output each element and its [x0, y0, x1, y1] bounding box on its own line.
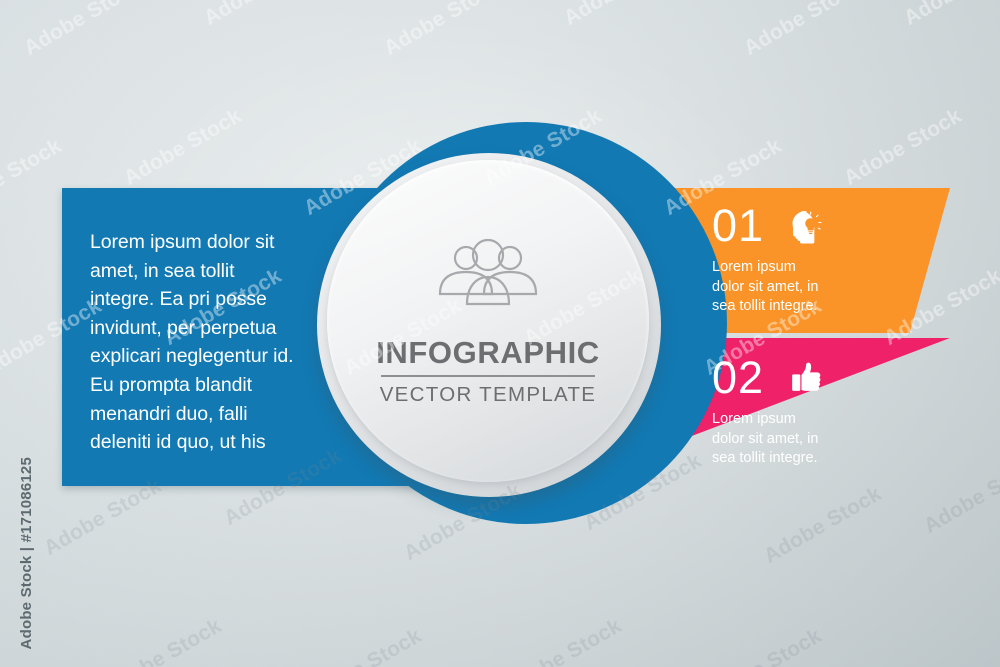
watermark-text: Adobe Stock — [560, 0, 686, 31]
step-01-number: 01 — [712, 203, 764, 249]
page-title: INFOGRAPHIC — [376, 336, 600, 370]
watermark-text: Adobe Stock — [920, 452, 1000, 539]
step-01-content: 01 Lorem ipsum dolor sit — [712, 198, 862, 317]
left-description-text: Lorem ipsum dolor sit amet, in sea tolli… — [90, 228, 300, 457]
watermark-text: Adobe Stock — [200, 0, 326, 31]
watermark-text: Adobe Stock — [760, 482, 886, 569]
page-subtitle: VECTOR TEMPLATE — [380, 383, 597, 407]
watermark-text: Adobe Stock — [380, 0, 506, 61]
people-group-icon — [429, 236, 547, 310]
watermark-text: Adobe Stock — [300, 624, 426, 667]
step-02-content: 02 Lorem ipsum dolor sit amet, in sea to… — [712, 350, 862, 469]
head-lightbulb-icon — [786, 206, 826, 246]
watermark-text: Adobe Stock — [120, 104, 246, 191]
watermark-text: Adobe Stock — [40, 474, 166, 561]
step-02-body: Lorem ipsum dolor sit amet, in sea tolli… — [712, 410, 862, 469]
watermark-text: Adobe Stock — [740, 0, 866, 61]
step-02-number: 02 — [712, 355, 764, 401]
step-01-header: 01 — [712, 198, 862, 254]
watermark-text: Adobe Stock — [20, 0, 146, 61]
step-01-body: Lorem ipsum dolor sit amet, in sea tolli… — [712, 258, 862, 317]
step-02-header: 02 — [712, 350, 862, 406]
center-content: INFOGRAPHIC VECTOR TEMPLATE — [327, 160, 649, 482]
watermark-text: Adobe Stock — [0, 134, 66, 221]
infographic-canvas: Lorem ipsum dolor sit amet, in sea tolli… — [0, 0, 1000, 667]
watermark-text: Adobe Stock — [840, 104, 966, 191]
stock-id-label: Adobe Stock | #171086125 — [18, 457, 35, 649]
watermark-text: Adobe Stock — [900, 0, 1000, 31]
watermark-text: Adobe Stock — [100, 614, 226, 667]
thumbs-up-icon — [786, 358, 826, 398]
watermark-text: Adobe Stock — [700, 624, 826, 667]
watermark-text: Adobe Stock — [500, 614, 626, 667]
title-divider — [381, 375, 595, 377]
